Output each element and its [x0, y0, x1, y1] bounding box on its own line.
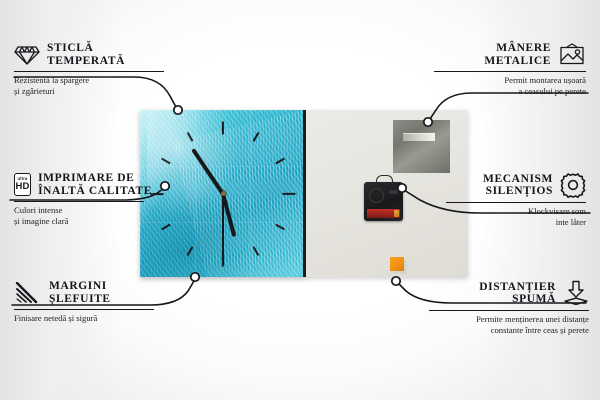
- callout-dot-sticla: [174, 106, 182, 114]
- feature-title-2: METALICE: [484, 55, 551, 68]
- feature-sub-1: Finisare netedă și sigură: [14, 313, 154, 324]
- feature-sub-2: a ceasului pe perete: [434, 86, 586, 97]
- arrow-down-onto-pad-icon: [563, 280, 589, 306]
- feature-sub-2: și zgârieturi: [14, 86, 164, 97]
- feature-sub-1: Culori intense: [14, 205, 152, 216]
- diamond-icon: [14, 44, 40, 66]
- hd-main-text: HD: [15, 182, 29, 192]
- feature-rule: [14, 201, 144, 202]
- callout-dot-distantier: [392, 277, 400, 285]
- callout-dot-mecanism: [398, 184, 406, 192]
- feature-title-2: TEMPERATĂ: [47, 55, 125, 68]
- feature-title: MÂNERE: [484, 42, 551, 55]
- feature-rule: [14, 71, 164, 72]
- feature-sub-2: inte låter: [446, 217, 586, 228]
- feature-title: MARGINI: [49, 280, 111, 293]
- feature-rule: [429, 310, 589, 311]
- feature-manere-metalice: MÂNERE METALICE Permit montarea ușoară a…: [434, 42, 586, 96]
- feature-sub-1: Klockvisare som: [446, 206, 586, 217]
- feature-title-2: ȘLEFUITE: [49, 293, 111, 306]
- feature-rule: [446, 202, 586, 203]
- feature-sub-1: Permit montarea ușoară: [434, 75, 586, 86]
- feature-title-2: ÎNALTĂ CALITATE: [38, 185, 152, 198]
- feature-sub-2: constante între ceas și perete: [429, 325, 589, 336]
- feature-margini-slefuite: MARGINI ȘLEFUITE Finisare netedă și sigu…: [14, 280, 154, 324]
- wall-hanger-frame-icon: [558, 43, 586, 67]
- feature-mecanism-silentios: MECANISM SILENȚIOS Klockvisare som inte …: [446, 172, 586, 227]
- feature-rule: [14, 309, 154, 310]
- callout-dot-imprimare: [161, 182, 169, 190]
- feature-sub-1: Rezistentă la spargere: [14, 75, 164, 86]
- callout-dot-manere: [424, 118, 432, 126]
- feature-title: STICLĂ: [47, 42, 125, 55]
- infographic-root: STICLĂ TEMPERATĂ Rezistentă la spargere …: [0, 0, 600, 400]
- callout-dot-margini: [191, 273, 199, 281]
- feature-distantier-spuma: DISTANȚIER SPUMĂ Permite menținerea unei…: [429, 280, 589, 335]
- feature-title-2: SPUMĂ: [479, 293, 556, 306]
- feature-title: IMPRIMARE DE: [38, 172, 152, 185]
- feature-title: DISTANȚIER: [479, 281, 556, 294]
- feature-sub-1: Permite menținerea unei distanțe: [429, 314, 589, 325]
- ultra-hd-badge-icon: ultra HD: [14, 173, 31, 196]
- feature-rule: [434, 71, 586, 72]
- feature-imprimare-hd: ultra HD IMPRIMARE DE ÎNALTĂ CALITATE Cu…: [14, 172, 152, 226]
- feature-title-2: SILENȚIOS: [483, 185, 553, 198]
- beveled-edges-icon: [14, 282, 42, 304]
- feature-sticla-temperata: STICLĂ TEMPERATĂ Rezistentă la spargere …: [14, 42, 164, 96]
- feature-sub-2: și imagine clară: [14, 216, 152, 227]
- gear-icon: [560, 172, 586, 198]
- feature-title: MECANISM: [483, 173, 553, 186]
